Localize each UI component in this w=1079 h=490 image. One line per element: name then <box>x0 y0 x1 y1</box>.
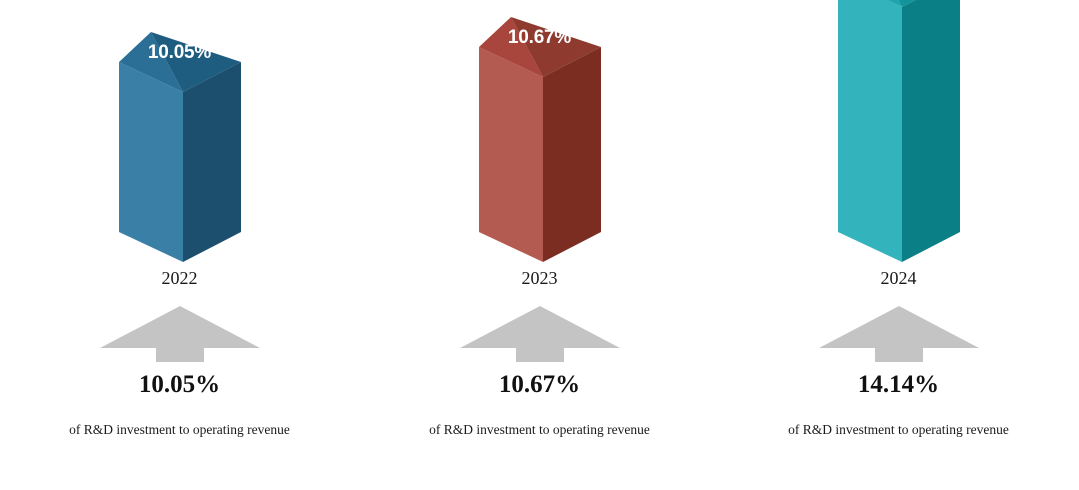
arrow-up-icon <box>100 306 260 362</box>
summary-caption-2023: of R&D investment to operating revenue <box>360 421 719 439</box>
rd-investment-3d-bar-chart: 10.05% 2022 10.05% of R&D investment to … <box>0 0 1079 490</box>
arrow-up-icon <box>819 306 979 362</box>
bar-3d-2022: 10.05% <box>119 60 241 264</box>
bar-year-label-2023: 2023 <box>360 268 719 289</box>
arrow-up-icon <box>460 306 620 362</box>
bar-side-face <box>543 47 601 262</box>
bar-side-face <box>902 0 960 262</box>
bar-year-label-2024: 2024 <box>719 268 1078 289</box>
summary-value-2022: 10.05% <box>0 371 359 399</box>
bar-3d-shape-2022 <box>119 60 241 264</box>
summary-caption-2022: of R&D investment to operating revenue <box>0 421 359 439</box>
bar-year-label-2022: 2022 <box>0 268 359 289</box>
bar-front-face <box>838 0 902 262</box>
arrow-up-icon-2022 <box>100 306 260 367</box>
chart-column-2022: 10.05% 2022 10.05% of R&D investment to … <box>0 0 359 490</box>
chart-column-2024: 14.14% 2024 14.14% of R&D investment to … <box>719 0 1078 490</box>
summary-value-2023: 10.67% <box>360 371 719 399</box>
summary-caption-2024: of R&D investment to operating revenue <box>719 421 1078 439</box>
bar-front-face <box>479 47 543 262</box>
bar-front-face <box>119 62 183 262</box>
arrow-up-icon-2024 <box>819 306 979 367</box>
bar-3d-2024: 14.14% <box>838 0 960 264</box>
bar-side-face <box>183 62 241 262</box>
bar-3d-shape-2023 <box>479 45 601 264</box>
arrow-up-icon-2023 <box>460 306 620 367</box>
bar-3d-shape-2024 <box>838 0 960 264</box>
summary-value-2024: 14.14% <box>719 371 1078 399</box>
bar-3d-2023: 10.67% <box>479 45 601 264</box>
chart-column-2023: 10.67% 2023 10.67% of R&D investment to … <box>360 0 719 490</box>
